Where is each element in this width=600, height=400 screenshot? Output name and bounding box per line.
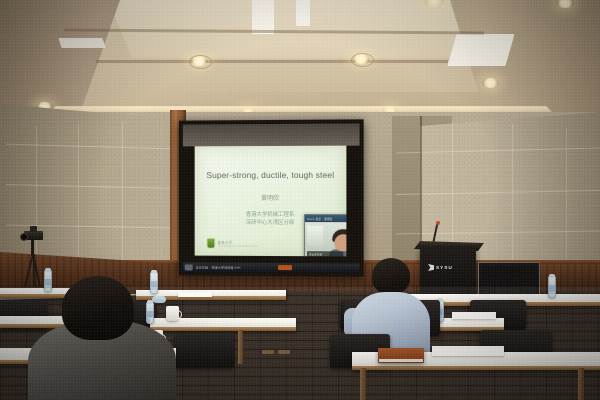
notebook	[378, 348, 424, 363]
paper-sheet-front	[432, 346, 504, 356]
panel-seam-lv1	[36, 126, 37, 266]
panel-seam-rv2	[512, 124, 513, 274]
lecture-hall-photo: Super-strong, ductile, tough steel 黄明欣 香…	[0, 0, 600, 400]
bottle-cap	[151, 270, 157, 274]
slide-author: 黄明欣	[195, 193, 347, 202]
attendee-2-head	[372, 258, 410, 294]
bottle-label	[151, 281, 157, 287]
university-logo: 香港大学 THE UNIVERSITY OF HONG KONG	[206, 238, 257, 249]
presentation-slide: Super-strong, ductile, tough steel 黄明欣 香…	[195, 146, 347, 257]
floor-vent-2	[278, 350, 290, 354]
camera-viewfinder	[30, 226, 37, 232]
desk-edge	[352, 366, 600, 370]
desk-leg-5	[578, 368, 584, 400]
bottle-label	[549, 285, 555, 291]
podium-logo-text: SYSU	[436, 265, 453, 270]
desk-edge	[150, 327, 296, 331]
attendee-1-head	[62, 276, 134, 340]
downlight-ring-3	[189, 55, 212, 69]
tripod-leg-3	[33, 254, 35, 286]
participant-face	[334, 234, 346, 251]
start-button-icon[interactable]	[185, 264, 193, 270]
university-logo-text: 香港大学 THE UNIVERSITY OF HONG KONG	[217, 239, 257, 247]
panel-seam-lv3	[122, 122, 123, 266]
paper-cup-1	[166, 306, 179, 321]
camera-lens-icon	[20, 233, 28, 241]
water-bottle-3	[548, 276, 556, 298]
podium-logo-icon	[428, 264, 434, 271]
notebook-pages	[379, 359, 423, 362]
desktop-taskbar[interactable]: 演示文稿 - 香港大学材料组 PPT	[183, 262, 360, 272]
video-call-window[interactable]: Zoom 会议 - 黄明欣 参会者音频	[304, 214, 346, 256]
floor-vent-1	[262, 350, 274, 354]
microphone-icon	[436, 221, 440, 225]
projection-screen: Super-strong, ductile, tough steel 黄明欣 香…	[179, 119, 364, 276]
video-call-footer-label: 参会者音频	[309, 252, 322, 256]
panel-seam-rv3	[566, 128, 567, 276]
desk-leg-1	[238, 330, 243, 364]
video-call-background-window	[307, 226, 323, 246]
bottle-label	[45, 279, 51, 285]
downlight-ring-4	[351, 53, 374, 67]
bottle-cap	[45, 268, 51, 272]
water-bottle-4	[146, 302, 154, 324]
taskbar-window-title: 演示文稿 - 香港大学材料组 PPT	[196, 265, 241, 269]
screen-letterbox-top	[183, 123, 360, 146]
university-logo-en: THE UNIVERSITY OF HONG KONG	[217, 245, 257, 247]
water-bottle-2	[150, 272, 158, 294]
downlight-5	[482, 78, 499, 88]
taskbar-tray-indicator	[278, 265, 292, 270]
video-call-title: Zoom 会议 - 黄明欣	[307, 217, 332, 221]
shield-icon	[206, 238, 215, 249]
panel-seam-lv2	[78, 124, 79, 266]
podium-logo: SYSU	[428, 264, 453, 271]
chair-front-1	[174, 334, 234, 368]
video-call-footer-bar: 参会者音频	[307, 251, 343, 256]
ceiling-light-slot-4	[58, 38, 105, 48]
water-bottle-1	[44, 270, 52, 292]
bottle-cap	[147, 300, 153, 304]
ceiling-light-slot-3	[447, 34, 514, 66]
paper-sheet-back	[178, 292, 212, 297]
bottle-cap	[549, 274, 555, 278]
desk-leg-4	[360, 368, 366, 400]
video-call-video-feed: 参会者音频	[305, 222, 346, 256]
ceiling-light-slot-2	[296, 0, 310, 26]
paper-sheet-mid	[452, 312, 496, 319]
bottle-label	[147, 311, 153, 317]
university-logo-cn: 香港大学	[217, 239, 257, 244]
ceiling-edge-2	[96, 60, 448, 63]
slide-title: Super-strong, ductile, tough steel	[195, 170, 347, 180]
